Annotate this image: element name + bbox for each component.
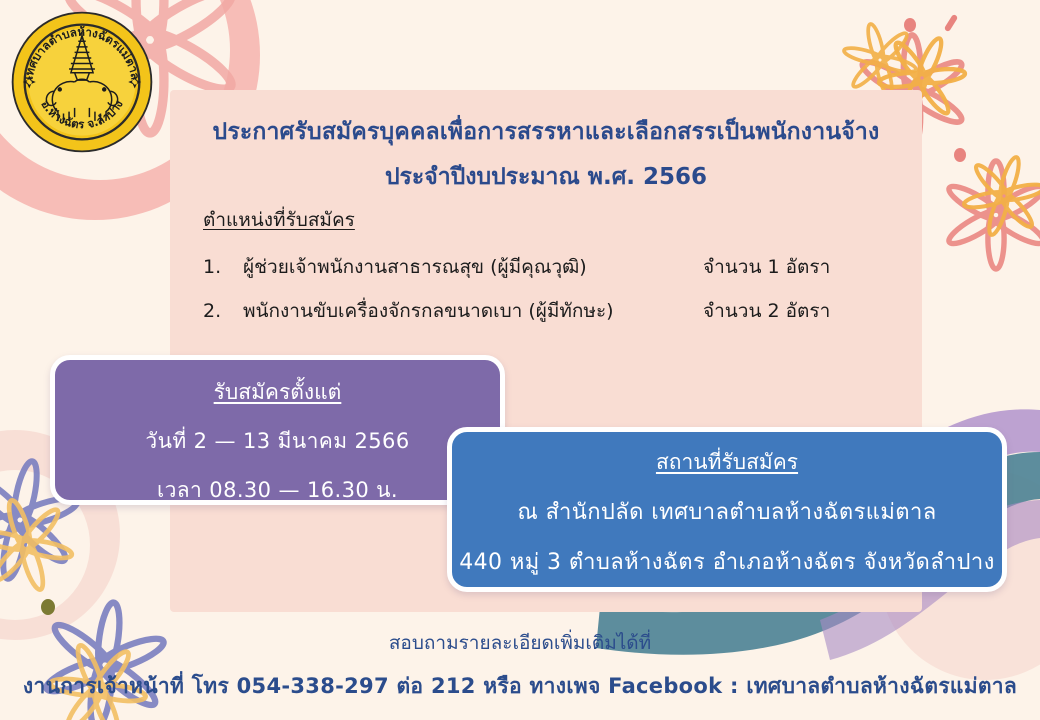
municipality-seal-logo: เทศบาลตำบลห้างฉัตรแม่ตาล อ.ห้างฉัตร จ.ลำ…: [8, 8, 156, 156]
position-quantity-2: จำนวน 2 อัตรา: [703, 296, 830, 326]
doodle-flower-right-pink: [945, 161, 1040, 269]
positions-section-label: ตำแหน่งที่รับสมัคร: [203, 205, 355, 235]
announcement-title: ประกาศรับสมัครบุคคลเพื่อการสรรหาและเลือก…: [170, 118, 922, 192]
application-place-line-1: ณ สำนักปลัด เทศบาลตำบลห้างฉัตรแม่ตาล: [452, 494, 1002, 529]
application-period-dates: วันที่ 2 — 13 มีนาคม 2566: [55, 425, 500, 458]
position-name-1: ผู้ช่วยเจ้าพนักงานสาธารณสุข (ผู้มีคุณวุฒ…: [243, 252, 703, 282]
doodle-flower-right-yellow: [955, 145, 1040, 246]
position-number-1: 1.: [203, 256, 243, 278]
footer-line-2: งานการเจ้าหน้าที่ โทร 054-338-297 ต่อ 21…: [0, 670, 1040, 703]
doodle-dash-1: [944, 14, 959, 32]
position-row-2: 2. พนักงานขับเครื่องจักรกลขนาดเบา (ผู้มี…: [203, 296, 903, 326]
application-period-card: รับสมัครตั้งแต่ วันที่ 2 — 13 มีนาคม 256…: [50, 355, 505, 505]
application-place-line-2: 440 หมู่ 3 ตำบลห้างฉัตร อำเภอห้างฉัตร จั…: [452, 544, 1002, 579]
application-period-heading: รับสมัครตั้งแต่: [55, 376, 500, 409]
application-period-hours: เวลา 08.30 — 16.30 น.: [55, 474, 500, 507]
footer-line-1: สอบถามรายละเอียดเพิ่มเติมได้ที่: [0, 628, 1040, 658]
title-line-1: ประกาศรับสมัครบุคคลเพื่อการสรรหาและเลือก…: [170, 118, 922, 147]
poster-canvas: เทศบาลตำบลห้างฉัตรแม่ตาล อ.ห้างฉัตร จ.ลำ…: [0, 0, 1040, 720]
application-place-heading: สถานที่รับสมัคร: [452, 446, 1002, 479]
doodle-dot-3: [41, 599, 55, 615]
position-name-2: พนักงานขับเครื่องจักรกลขนาดเบา (ผู้มีทัก…: [243, 296, 703, 326]
application-place-card: สถานที่รับสมัคร ณ สำนักปลัด เทศบาลตำบลห้…: [447, 427, 1007, 592]
position-row-1: 1. ผู้ช่วยเจ้าพนักงานสาธารณสุข (ผู้มีคุณ…: [203, 252, 903, 282]
doodle-dot-1: [904, 18, 916, 32]
title-line-2: ประจำปีงบประมาณ พ.ศ. 2566: [170, 163, 922, 192]
doodle-dot-2: [954, 148, 966, 162]
position-quantity-1: จำนวน 1 อัตรา: [703, 252, 830, 282]
contact-footer: สอบถามรายละเอียดเพิ่มเติมได้ที่ งานการเจ…: [0, 628, 1040, 703]
position-number-2: 2.: [203, 300, 243, 322]
